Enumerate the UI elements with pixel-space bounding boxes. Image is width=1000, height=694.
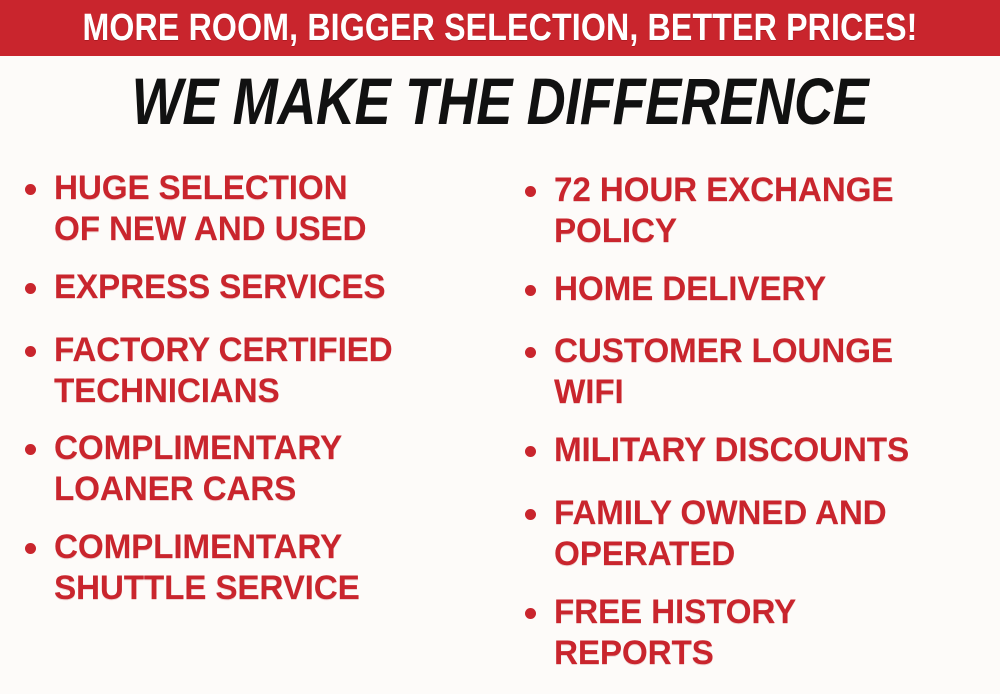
list-item: CUSTOMER LOUNGE WIFI: [518, 331, 900, 413]
list-item: COMPLIMENTARY LOANER CARS: [18, 428, 348, 510]
list-item: FREE HISTORY REPORTS: [518, 592, 801, 674]
bullet-dot-icon: [25, 184, 36, 195]
list-item-label: FACTORY CERTIFIED TECHNICIANS: [54, 330, 393, 412]
list-item: MILITARY DISCOUNTS: [518, 430, 916, 471]
list-item: EXPRESS SERVICES: [18, 267, 392, 308]
list-item: FACTORY CERTIFIED TECHNICIANS: [18, 330, 399, 412]
bullet-dot-icon: [525, 285, 536, 296]
list-item-label: EXPRESS SERVICES: [54, 267, 385, 308]
benefits-column-right: 72 HOUR EXCHANGE POLICY HOME DELIVERY CU…: [518, 160, 1000, 694]
bullet-dot-icon: [525, 509, 536, 520]
bullet-dot-icon: [25, 346, 36, 357]
page-title: WE MAKE THE DIFFERENCE: [90, 68, 910, 134]
list-item-label: COMPLIMENTARY SHUTTLE SERVICE: [54, 527, 360, 609]
bullet-dot-icon: [525, 608, 536, 619]
list-item: 72 HOUR EXCHANGE POLICY: [518, 170, 900, 252]
top-banner: MORE ROOM, BIGGER SELECTION, BETTER PRIC…: [0, 0, 1000, 56]
bullet-dot-icon: [525, 186, 536, 197]
list-item-label: FREE HISTORY REPORTS: [554, 592, 796, 674]
list-item: HOME DELIVERY: [518, 269, 832, 310]
benefits-column-left: HUGE SELECTION OF NEW AND USED EXPRESS S…: [18, 160, 500, 694]
list-item: COMPLIMENTARY SHUTTLE SERVICE: [18, 527, 366, 609]
bullet-dot-icon: [25, 283, 36, 294]
list-item: HUGE SELECTION OF NEW AND USED: [18, 168, 373, 250]
list-item-label: COMPLIMENTARY LOANER CARS: [54, 428, 342, 510]
list-item-label: HUGE SELECTION OF NEW AND USED: [54, 168, 366, 250]
bullet-dot-icon: [25, 444, 36, 455]
list-item-label: 72 HOUR EXCHANGE POLICY: [554, 170, 893, 252]
list-item: FAMILY OWNED AND OPERATED: [518, 493, 893, 575]
banner-headline-text: MORE ROOM, BIGGER SELECTION, BETTER PRIC…: [78, 0, 923, 56]
list-item-label: HOME DELIVERY: [554, 269, 826, 310]
bullet-dot-icon: [25, 543, 36, 554]
list-item-label: FAMILY OWNED AND OPERATED: [554, 493, 887, 575]
list-item-label: CUSTOMER LOUNGE WIFI: [554, 331, 893, 413]
bullet-dot-icon: [525, 347, 536, 358]
promotional-poster: MORE ROOM, BIGGER SELECTION, BETTER PRIC…: [0, 0, 1000, 694]
list-item-label: MILITARY DISCOUNTS: [554, 430, 909, 471]
bullet-dot-icon: [525, 446, 536, 457]
